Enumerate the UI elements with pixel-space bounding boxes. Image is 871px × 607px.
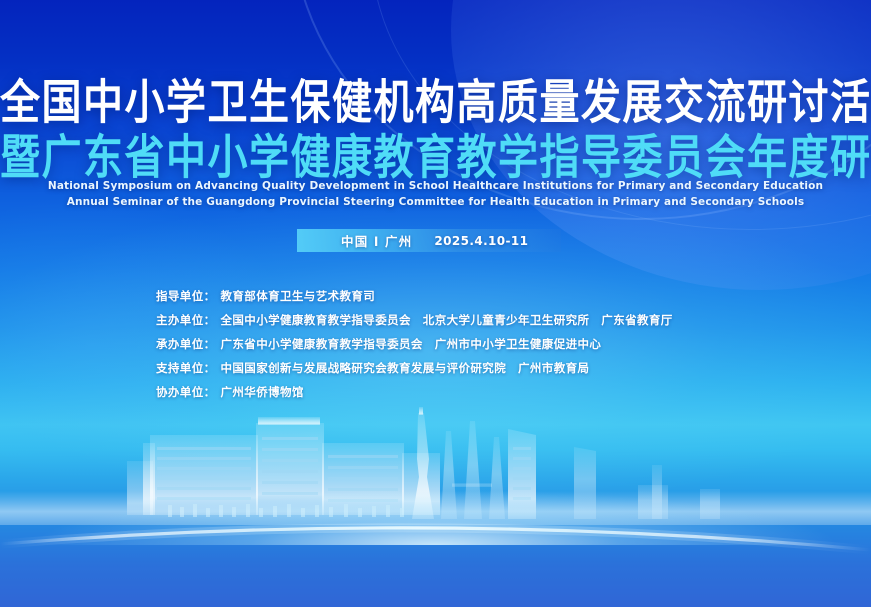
poster-headline: 全国中小学卫生保健机构高质量发展交流研讨活动 暨广东省中小学健康教育教学指导委员…	[0, 76, 871, 178]
organization-label: 指导单位：	[156, 288, 216, 304]
badge-location: 中国 l 广州	[341, 231, 412, 250]
badge-date: 2025.4.10-11	[434, 234, 528, 248]
organization-row: 主办单位： 全国中小学健康教育教学指导委员会 北京大学儿童青少年卫生研究所 广东…	[156, 312, 673, 336]
decorative-arc-outer	[291, 0, 871, 220]
organization-value: 教育部体育卫生与艺术教育司	[221, 288, 376, 304]
organization-row: 指导单位： 教育部体育卫生与艺术教育司	[156, 288, 673, 312]
organization-row: 支持单位： 中国国家创新与发展战略研究会教育发展与评价研究院 广州市教育局	[156, 360, 673, 384]
organization-value: 广东省中小学健康教育教学指导委员会 广州市中小学卫生健康促进中心	[221, 336, 602, 352]
city-spires	[441, 421, 505, 519]
organization-value: 广州华侨博物馆	[221, 384, 304, 400]
event-poster: 全国中小学卫生保健机构高质量发展交流研讨活动 暨广东省中小学健康教育教学指导委员…	[0, 0, 871, 607]
organization-list: 指导单位： 教育部体育卫生与艺术教育司 主办单位： 全国中小学健康教育教学指导委…	[156, 288, 673, 408]
organization-row: 承办单位： 广东省中小学健康教育教学指导委员会 广州市中小学卫生健康促进中心	[156, 336, 673, 360]
organization-value: 中国国家创新与发展战略研究会教育发展与评价研究院 广州市教育局	[221, 360, 590, 376]
title-line-secondary: 暨广东省中小学健康教育教学指导委员会年度研讨活动	[0, 131, 871, 186]
organization-label: 支持单位：	[156, 360, 216, 376]
horizon-light-glow	[0, 528, 871, 550]
decorative-arc-inner	[371, 0, 871, 230]
title-line-primary: 全国中小学卫生保健机构高质量发展交流研讨活动	[0, 76, 871, 131]
location-date-badge: 中国 l 广州 2025.4.10-11	[297, 229, 561, 252]
organization-row: 协办单位： 广州华侨博物馆	[156, 384, 673, 408]
horizon-light-line	[0, 528, 871, 550]
organization-label: 主办单位：	[156, 312, 216, 328]
organization-value: 全国中小学健康教育教学指导委员会 北京大学儿童青少年卫生研究所 广东省教育厅	[221, 312, 673, 328]
english-subtitle-line-2: Annual Seminar of the Guangdong Provinci…	[0, 194, 871, 210]
organization-label: 协办单位：	[156, 384, 216, 400]
city-skyline-illustration	[0, 407, 871, 607]
school-building-group	[127, 417, 440, 515]
school-building-windows	[157, 437, 398, 502]
english-subtitle: National Symposium on Advancing Quality …	[0, 178, 871, 210]
canton-tower	[412, 407, 434, 519]
horizon-center-glow	[0, 485, 871, 545]
english-subtitle-line-1: National Symposium on Advancing Quality …	[0, 178, 871, 194]
stepped-tower	[508, 429, 536, 519]
plaza-figures	[168, 504, 404, 517]
organization-label: 承办单位：	[156, 336, 216, 352]
city-towers-right	[574, 447, 720, 519]
ground-mist	[0, 491, 871, 525]
stepped-tower-windows	[513, 447, 531, 500]
